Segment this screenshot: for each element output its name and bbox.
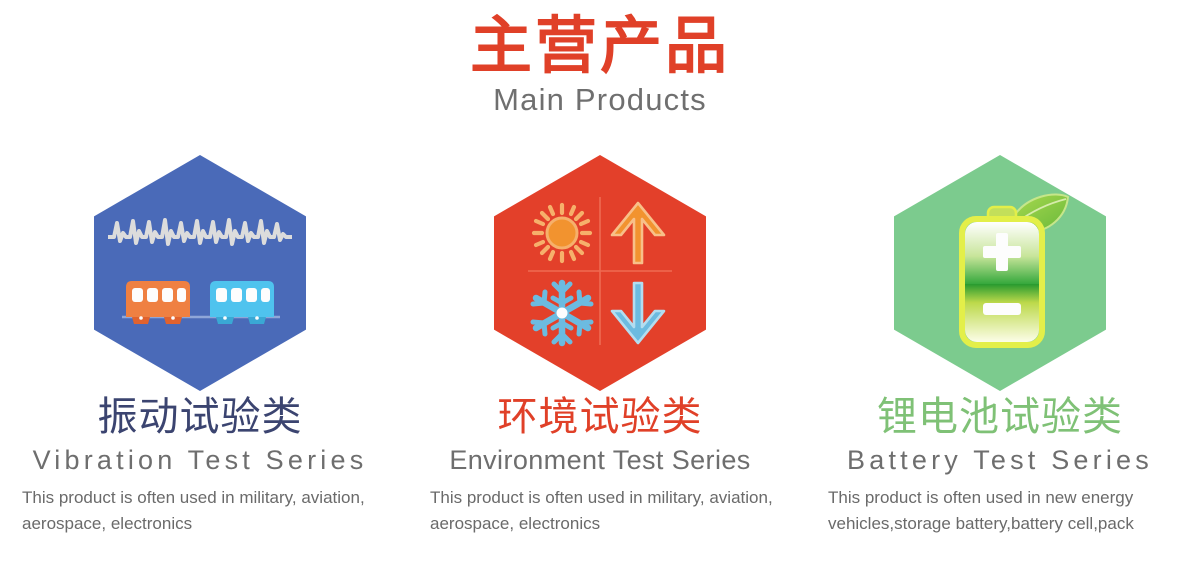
sun-icon: [534, 205, 590, 261]
section-header: 主营产品 Main Products: [0, 0, 1200, 117]
minus-icon: [983, 303, 1021, 315]
product-title-cn: 环境试验类: [400, 395, 800, 440]
product-description: This product is often used in new energy…: [828, 476, 1164, 538]
arrow-up-icon: [612, 203, 664, 263]
product-card-battery[interactable]: 锂电池试验类 Battery Test Series This product …: [800, 155, 1200, 582]
train-icons: [122, 277, 280, 329]
product-description: This product is often used in military, …: [22, 476, 374, 538]
snowflake-icon: [533, 283, 591, 343]
battery-icon: [962, 219, 1042, 345]
section-title-en: Main Products: [0, 77, 1200, 117]
environment-hexagon-icon: [494, 155, 706, 391]
product-description: This product is often used in military, …: [430, 476, 786, 538]
product-title-en: Vibration Test Series: [0, 440, 400, 476]
product-title-en: Environment Test Series: [400, 440, 800, 476]
product-caption: 环境试验类 Environment Test Series This produ…: [400, 395, 800, 538]
battery-hexagon-icon: [894, 155, 1106, 391]
arrow-down-icon: [612, 283, 664, 343]
waveform-icon: [108, 211, 292, 253]
product-card-vibration[interactable]: 振动试验类 Vibration Test Series This product…: [0, 155, 400, 582]
product-title-cn: 振动试验类: [0, 395, 400, 440]
product-title-en: Battery Test Series: [800, 440, 1200, 476]
product-caption: 锂电池试验类 Battery Test Series This product …: [800, 395, 1200, 538]
quadrant-icons: [524, 191, 676, 351]
product-card-environment[interactable]: 环境试验类 Environment Test Series This produ…: [400, 155, 800, 582]
main-products-section: 主营产品 Main Products: [0, 0, 1200, 582]
product-caption: 振动试验类 Vibration Test Series This product…: [0, 395, 400, 538]
battery-leaf-icons: [934, 189, 1070, 355]
section-title-cn: 主营产品: [0, 0, 1200, 77]
product-title-cn: 锂电池试验类: [800, 395, 1200, 440]
vibration-hexagon-icon: [94, 155, 306, 391]
product-columns: 振动试验类 Vibration Test Series This product…: [0, 155, 1200, 582]
